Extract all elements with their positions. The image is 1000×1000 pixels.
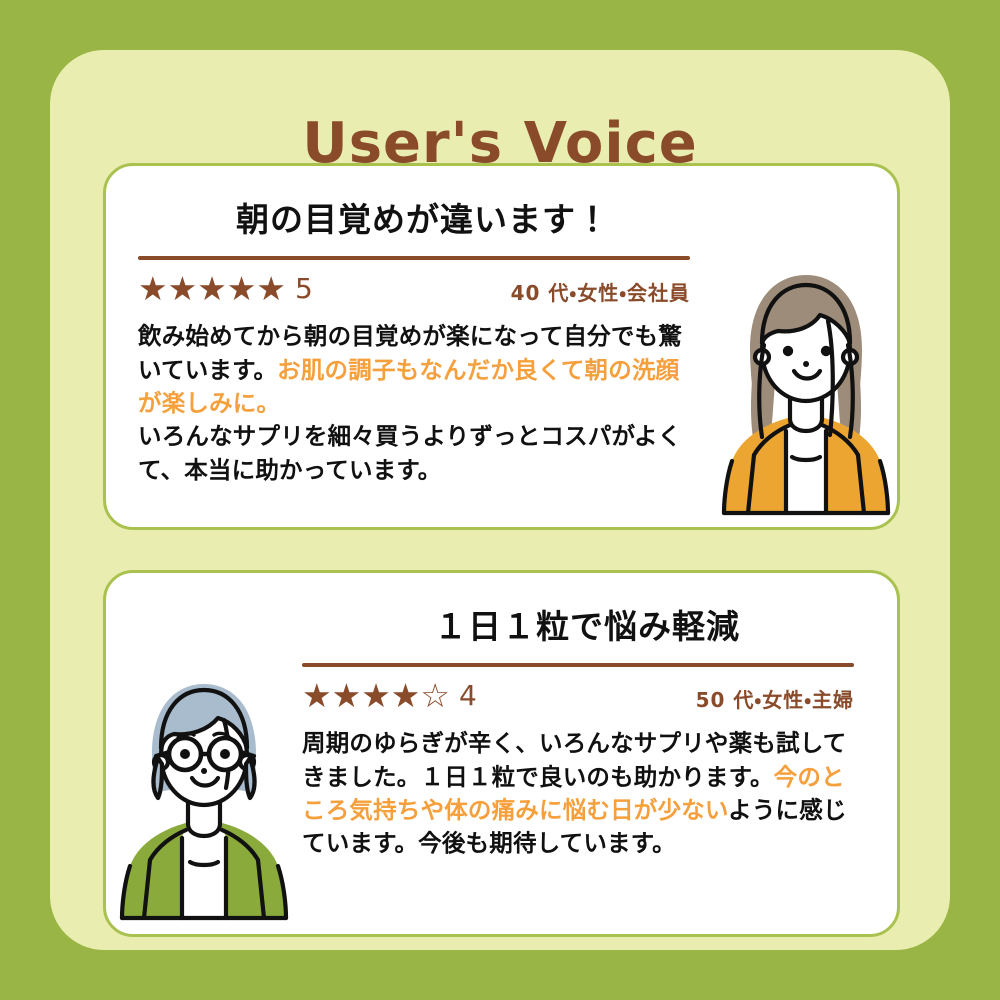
review-text-column: 朝の目覚めが違います！ ★ ★ ★ ★ ★ 5 40 代・女性・会社員 bbox=[138, 166, 708, 527]
content-panel: User's Voice 朝の目覚めが違います！ ★ ★ ★ ★ ★ 5 bbox=[50, 50, 950, 950]
review-body: 飲み始めてから朝の目覚めが楽になって自分でも驚いています。お肌の調子もなんだか良… bbox=[138, 320, 694, 487]
review-card: 朝の目覚めが違います！ ★ ★ ★ ★ ★ 5 40 代・女性・会社員 bbox=[103, 163, 900, 530]
reviewer-persona: 40 代・女性・会社員 bbox=[511, 277, 690, 306]
star-filled-icon: ★ bbox=[391, 679, 421, 712]
review-body: 周期のゆらぎが辛く、いろんなサプリや薬も試してきました。１日１粒で良いのも助かり… bbox=[302, 727, 858, 860]
star-filled-icon: ★ bbox=[256, 272, 286, 305]
review-body-part: いろんなサプリを細々買うよりずっとコスパがよくて、本当に助かっています。 bbox=[138, 422, 681, 483]
reviewer-avatar bbox=[708, 166, 904, 527]
reviewer-persona: 50 代・女性・主婦 bbox=[696, 684, 854, 713]
reviewer-avatar bbox=[106, 573, 302, 934]
title-divider bbox=[302, 663, 854, 667]
review-body-part: 周期のゆらぎが辛く、いろんなサプリや薬も試してきました。１日１粒で良いのも助かり… bbox=[302, 729, 846, 790]
star-rating: ★ ★ ★ ★ ★ 5 bbox=[138, 272, 313, 305]
review-card: １日１粒で悩み軽減 ★ ★ ★ ★ ☆ 4 50 代・女性・主婦 bbox=[103, 570, 900, 937]
star-empty-icon: ☆ bbox=[420, 679, 450, 712]
star-filled-icon: ★ bbox=[197, 272, 227, 305]
title-divider bbox=[138, 256, 690, 260]
avatar-illustration-woman-green-cardigan bbox=[106, 672, 302, 934]
review-title: 朝の目覚めが違います！ bbox=[138, 166, 708, 238]
poster-canvas: User's Voice 朝の目覚めが違います！ ★ ★ ★ ★ ★ 5 bbox=[0, 0, 1000, 1000]
star-filled-icon: ★ bbox=[361, 679, 391, 712]
review-text-column: １日１粒で悩み軽減 ★ ★ ★ ★ ☆ 4 50 代・女性・主婦 bbox=[302, 573, 872, 934]
review-meta-row: ★ ★ ★ ★ ☆ 4 50 代・女性・主婦 bbox=[302, 679, 854, 713]
star-filled-icon: ★ bbox=[332, 679, 362, 712]
star-filled-icon: ★ bbox=[227, 272, 257, 305]
star-filled-icon: ★ bbox=[168, 272, 198, 305]
rating-value: 4 bbox=[459, 682, 477, 710]
star-filled-icon: ★ bbox=[302, 679, 332, 712]
review-title: １日１粒で悩み軽減 bbox=[302, 573, 872, 645]
rating-value: 5 bbox=[295, 275, 313, 303]
review-meta-row: ★ ★ ★ ★ ★ 5 40 代・女性・会社員 bbox=[138, 272, 690, 306]
avatar-illustration-woman-yellow-jacket bbox=[708, 265, 904, 527]
star-rating: ★ ★ ★ ★ ☆ 4 bbox=[302, 679, 477, 712]
star-filled-icon: ★ bbox=[138, 272, 168, 305]
